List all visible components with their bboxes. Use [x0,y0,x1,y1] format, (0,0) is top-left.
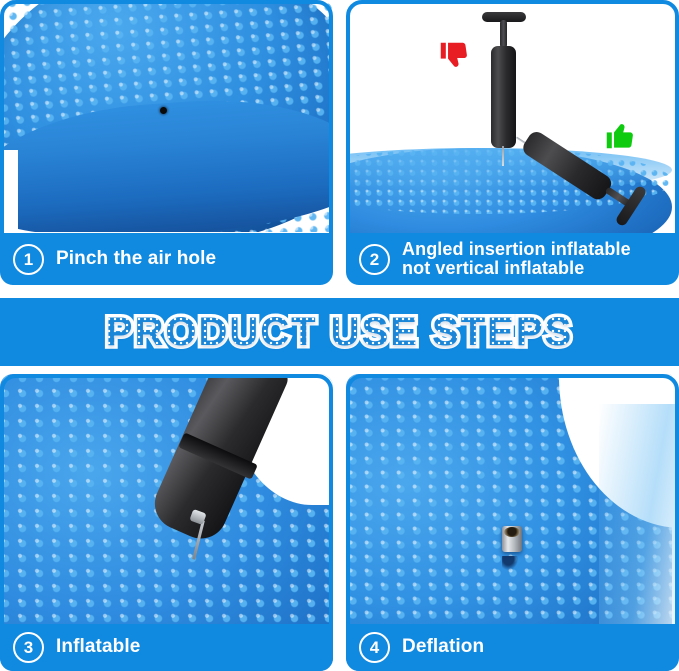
air-valve [502,526,522,552]
pump-barrel [491,46,516,148]
thumbs-up-icon [601,115,641,158]
step-2-number-badge: 2 [359,244,390,275]
banner-title: PRODUCT USE STEPS [106,310,573,355]
pump-shaft [500,20,507,48]
valve-shadow [502,556,518,570]
pump-needle [502,146,504,166]
disc-edge-highlight [599,404,679,642]
product-use-steps-banner: PRODUCT USE STEPS PRODUCT USE STEPS [0,298,679,366]
step-panel-2: 2 Angled insertion inflatable not vertic… [346,0,679,285]
step-panel-1: 1 Pinch the air hole [0,0,333,285]
step-3-number-badge: 3 [13,632,44,663]
step-2-caption-bar: 2 Angled insertion inflatable not vertic… [346,233,679,285]
thumbs-down-icon [435,38,475,81]
step-4-caption-bar: 4 Deflation [346,624,679,671]
step-panel-4: 4 Deflation [346,374,679,671]
step-3-caption-bar: 3 Inflatable [0,624,333,671]
step-4-number-badge: 4 [359,632,390,663]
step-panel-3: 3 Inflatable [0,374,333,671]
product-instruction-sheet: 1 Pinch the air hole [0,0,679,671]
step-1-number-badge: 1 [13,244,44,275]
step-1-caption-bar: 1 Pinch the air hole [0,233,333,285]
step-2-caption-text: Angled insertion inflatable not vertical… [402,240,631,279]
step-4-caption-text: Deflation [402,637,484,658]
pump-handle [614,184,647,227]
step-1-caption-text: Pinch the air hole [56,249,216,270]
air-hole [160,107,167,114]
step-3-caption-text: Inflatable [56,637,140,658]
